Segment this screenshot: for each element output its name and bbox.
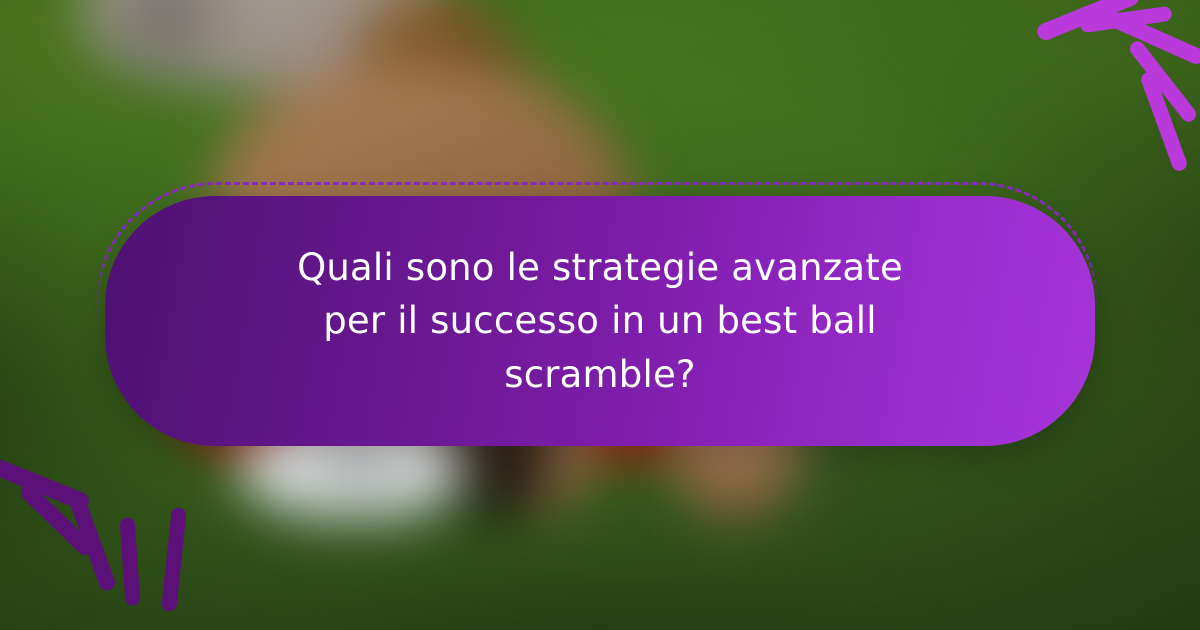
sparkle-burst-bottom-left-icon (0, 468, 200, 628)
sparkle-burst-bottom-left-ray-4 (119, 517, 140, 606)
sparkle-burst-top-right-icon (1012, 2, 1192, 162)
question-card: Quali sono le strategie avanzate per il … (105, 196, 1095, 446)
question-card-canvas: Quali sono le strategie avanzate per il … (0, 0, 1200, 630)
sparkle-burst-bottom-left-ray-5 (161, 507, 187, 612)
question-title: Quali sono le strategie avanzate per il … (250, 241, 950, 402)
